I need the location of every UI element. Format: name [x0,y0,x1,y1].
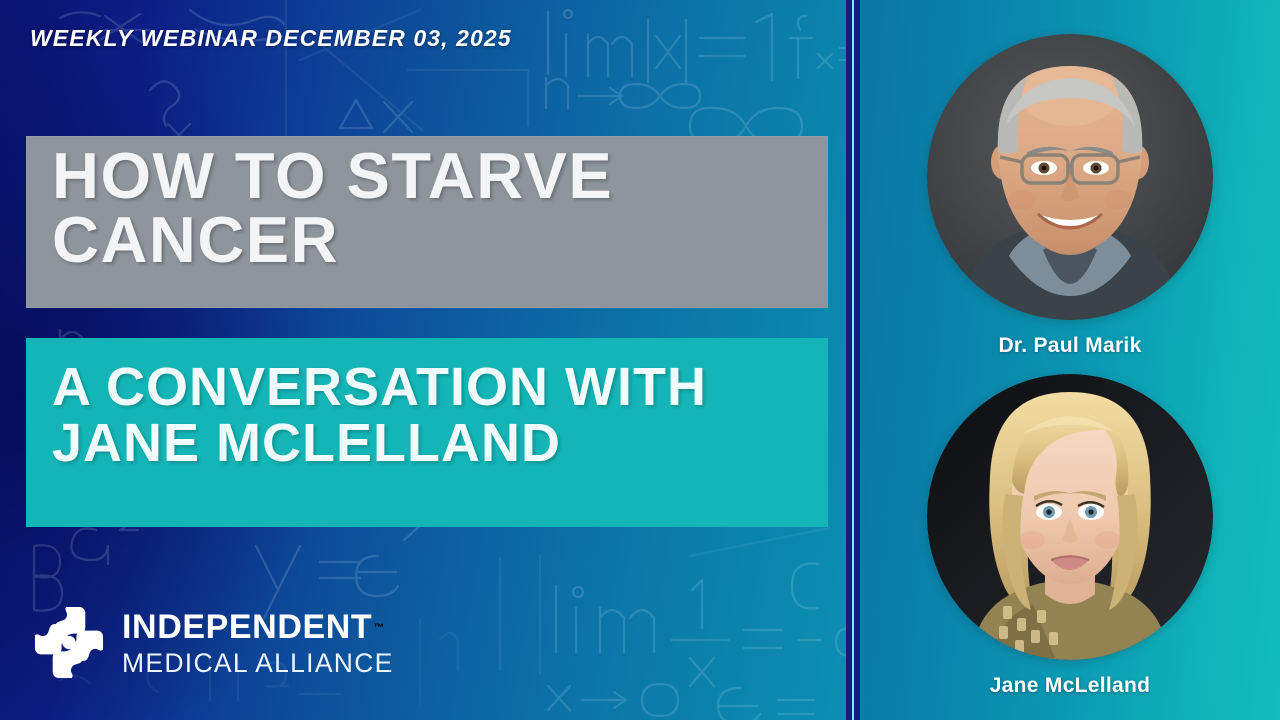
webinar-promo-graphic: WEEKLY WEBINAR DECEMBER 03, 2025 HOW TO … [0,0,1280,720]
speaker-name: Dr. Paul Marik [860,334,1280,358]
speakers-panel: Dr. Paul Marik [860,0,1280,720]
logo-wordmark: INDEPENDENT™ MEDICAL ALLIANCE [122,610,394,677]
pinwheel-cross-logo-mark-icon [32,604,106,682]
avatar [927,374,1213,660]
speaker-card: Dr. Paul Marik [860,34,1280,358]
title-banner: HOW TO STARVE CANCER [26,136,828,308]
panel-divider-line [852,0,854,720]
left-content-panel: WEEKLY WEBINAR DECEMBER 03, 2025 HOW TO … [0,0,852,720]
speaker-card: Jane McLelland [860,374,1280,698]
webinar-date-kicker: WEEKLY WEBINAR DECEMBER 03, 2025 [30,25,512,52]
subtitle-banner: A CONVERSATION WITH JANE MCLELLAND [26,338,828,527]
logo-name-secondary: MEDICAL ALLIANCE [122,650,394,677]
organization-logo: INDEPENDENT™ MEDICAL ALLIANCE [32,604,394,682]
page-subtitle: A CONVERSATION WITH JANE MCLELLAND [52,360,820,471]
avatar [927,34,1213,320]
speaker-name: Jane McLelland [860,674,1280,698]
logo-name-primary: INDEPENDENT [122,610,372,644]
page-title: HOW TO STARVE CANCER [52,144,812,273]
trademark-icon: ™ [373,622,384,634]
